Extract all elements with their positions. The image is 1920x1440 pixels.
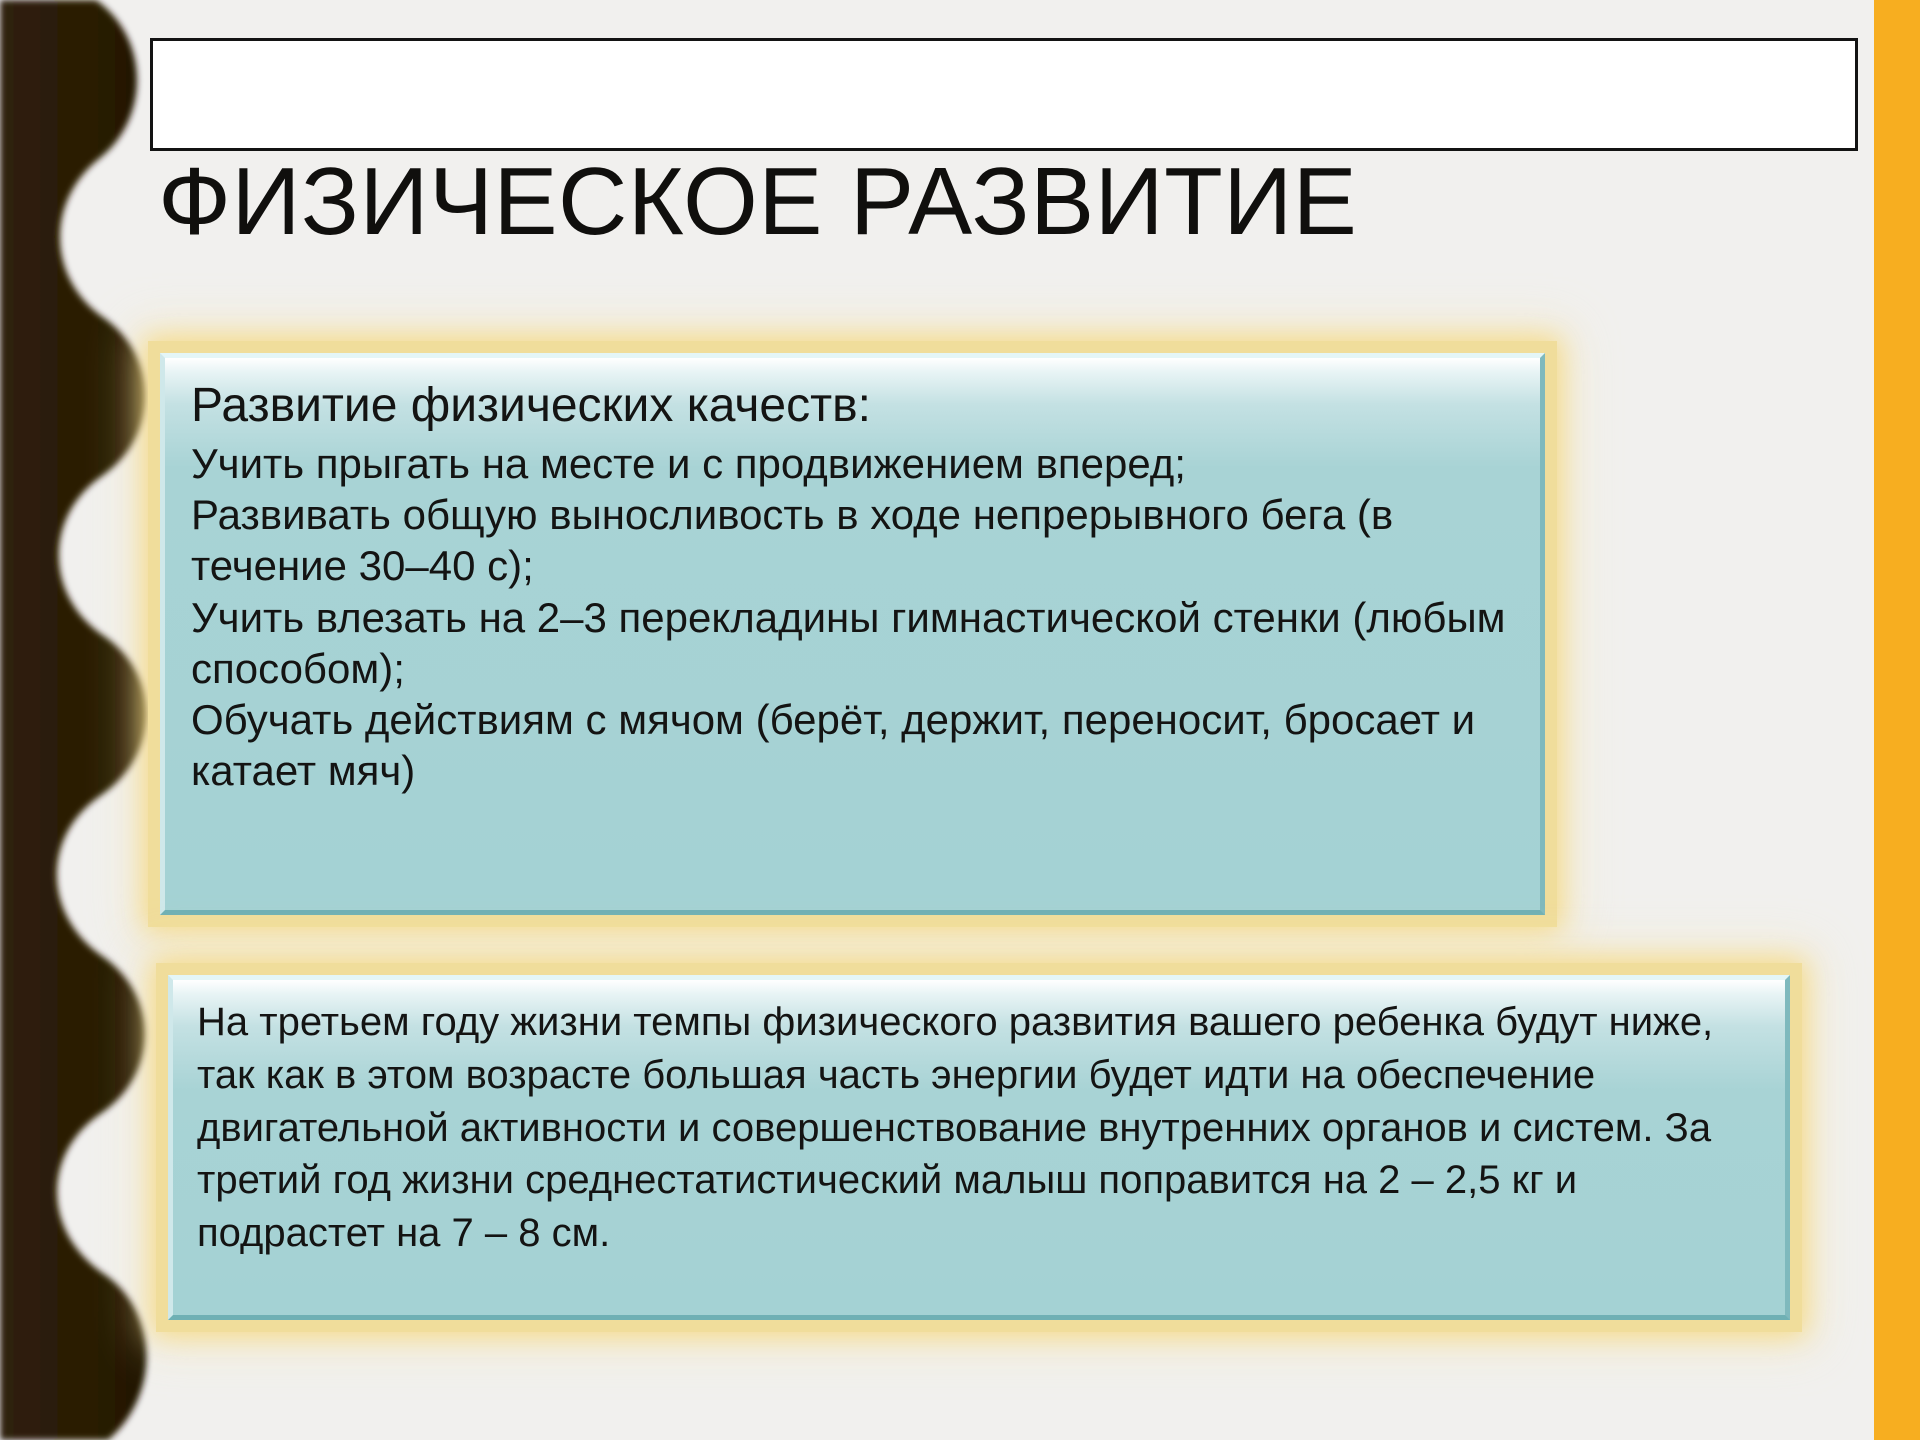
qualities-item-2: Развивать общую выносливость в ходе непр… (191, 489, 1514, 591)
slide-canvas: ФИЗИЧЕСКОЕ РАЗВИТИЕ ДЕТЕЙ ОТ 2 ДО 3 ЛЕТ … (0, 0, 1920, 1440)
panel-physical-qualities-body: Развитие физических качеств: Учить прыга… (165, 358, 1540, 807)
qualities-item-4: Обучать действиям с мячом (берёт, держит… (191, 694, 1514, 796)
growth-note-paragraph: На третьем году жизни темпы физического … (197, 996, 1761, 1260)
panel-physical-qualities: Развитие физических качеств: Учить прыга… (160, 353, 1545, 915)
qualities-item-1: Учить прыгать на месте и с продвижением … (191, 438, 1514, 489)
right-accent-bar (1874, 0, 1920, 1440)
panel-growth-note: На третьем году жизни темпы физического … (168, 975, 1790, 1320)
title-line-1: ФИЗИЧЕСКОЕ РАЗВИТИЕ (158, 143, 1850, 260)
panel-growth-note-body: На третьем году жизни темпы физического … (173, 980, 1785, 1270)
panel-heading-qualities: Развитие физических качеств: (191, 376, 1514, 436)
qualities-item-3: Учить влезать на 2–3 перекладины гимнаст… (191, 592, 1514, 694)
